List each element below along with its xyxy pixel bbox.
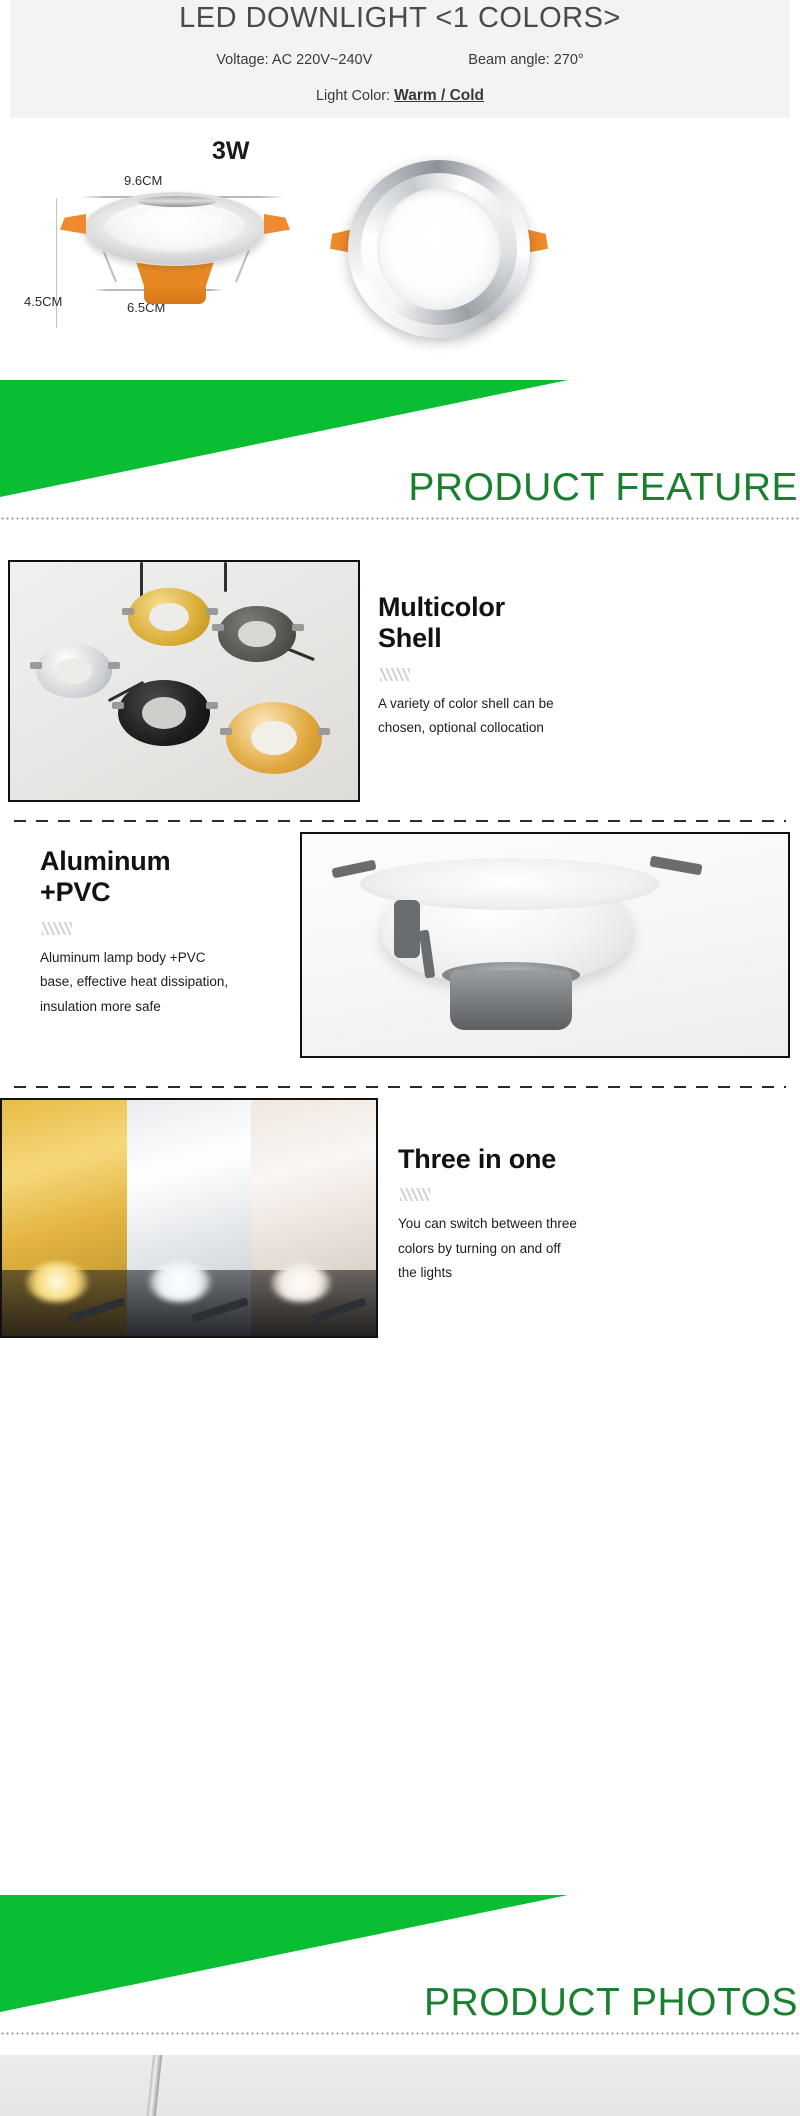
hatch-decoration-icon — [42, 922, 72, 935]
beam-angle-spec: Beam angle: 270° — [468, 52, 583, 68]
feature-heading-line1: Multicolor — [378, 592, 505, 622]
pane-wall — [251, 1100, 376, 1270]
cool-light-pane — [127, 1100, 252, 1336]
feature-body-line3: insulation more safe — [40, 999, 161, 1014]
product-feature-title: PRODUCT FEATURE — [408, 466, 798, 510]
feature-body-line3: the lights — [398, 1265, 452, 1280]
bottom-product-photo — [0, 2055, 800, 2116]
wattage-badge: 3W — [212, 137, 250, 166]
downlight-lens — [122, 208, 228, 244]
shell-silver — [36, 644, 112, 698]
product-title: LED DOWNLIGHT <1 COLORS> — [10, 0, 790, 35]
feature-body-line2: colors by turning on and off — [398, 1241, 561, 1256]
product-photos-title: PRODUCT PHOTOS — [424, 1981, 798, 2025]
feature-heading-line1: Three in one — [398, 1144, 556, 1174]
mounting-clip-right — [264, 214, 290, 234]
feature-heading-line1: Aluminum — [40, 846, 170, 876]
feature-body-line2: chosen, optional collocation — [378, 720, 544, 735]
pane-wall — [2, 1100, 127, 1270]
shell-prong — [122, 608, 134, 615]
feature-heading-line2: Shell — [378, 623, 442, 653]
downlight-driver-base — [144, 282, 206, 304]
dotted-divider — [0, 2032, 800, 2035]
three-color-temperature-photo — [0, 1098, 378, 1338]
shell-prong — [30, 662, 42, 669]
feature-row-three-in-one: Three in one You can switch between thre… — [0, 1098, 800, 1348]
chrome-downlight-illustration — [330, 156, 550, 342]
multicolor-shell-photo — [8, 560, 360, 802]
spec-header: LED DOWNLIGHT <1 COLORS> Voltage: AC 220… — [10, 0, 790, 118]
three-in-one-text: Three in one You can switch between thre… — [398, 1144, 778, 1286]
hatch-decoration-icon — [380, 668, 410, 681]
white-downlight-illustration — [60, 178, 290, 338]
wire — [224, 562, 227, 592]
feature-body: You can switch between three colors by t… — [398, 1212, 778, 1286]
feature-body-line2: base, effective heat dissipation, — [40, 974, 228, 989]
pvc-base — [450, 970, 572, 1030]
shell-gold — [128, 588, 210, 646]
height-dimension-label: 4.5CM — [24, 294, 62, 309]
spring-bracket — [394, 900, 420, 958]
voltage-spec: Voltage: AC 220V~240V — [216, 52, 372, 68]
lamp-glow — [271, 1264, 331, 1302]
photo-rod-detail — [146, 2055, 162, 2116]
shell-dark-gray — [218, 606, 296, 662]
shell-copper — [226, 702, 322, 774]
shell-prong — [108, 662, 120, 669]
lamp-glow — [149, 1262, 211, 1302]
aluminum-pvc-photo — [300, 832, 790, 1058]
product-dimension-diagram: 3W 9.6CM 4.5CM 6.5CM — [0, 118, 800, 380]
light-color-label: Light Color: — [316, 88, 390, 104]
downlight-chrome-accent — [138, 196, 216, 207]
dotted-divider — [0, 517, 800, 520]
product-feature-banner: PRODUCT FEATURE — [0, 380, 800, 530]
neutral-light-pane — [251, 1100, 376, 1336]
multicolor-shell-text: Multicolor Shell A variety of color shel… — [378, 592, 778, 741]
warm-light-pane — [2, 1100, 127, 1336]
chrome-diffuser-face — [388, 199, 490, 299]
product-photos-banner: PRODUCT PHOTOS — [0, 1895, 800, 2045]
shell-black — [118, 680, 210, 746]
dashed-divider-2 — [14, 1086, 786, 1088]
feature-body-line1: Aluminum lamp body +PVC — [40, 950, 205, 965]
pane-wall — [127, 1100, 252, 1270]
shell-prong — [206, 608, 218, 615]
feature-row-multicolor-shell: Multicolor Shell A variety of color shel… — [0, 560, 800, 810]
wire — [140, 562, 143, 598]
feature-body-line1: You can switch between three — [398, 1216, 577, 1231]
mounting-clip-left — [60, 214, 86, 234]
dashed-divider-1 — [14, 820, 786, 822]
feature-heading: Three in one — [398, 1144, 778, 1175]
shell-prong — [292, 624, 304, 631]
hatch-decoration-icon — [400, 1188, 430, 1201]
lamp-glow — [26, 1262, 88, 1302]
shell-prong — [318, 728, 330, 735]
feature-row-aluminum-pvc: Aluminum +PVC Aluminum lamp body +PVC ba… — [0, 832, 800, 1072]
feature-heading-line2: +PVC — [40, 877, 110, 907]
mounting-clip — [649, 856, 702, 876]
feature-body-line1: A variety of color shell can be — [378, 696, 554, 711]
shell-prong — [212, 624, 224, 631]
light-color-spec: Light Color: Warm / Cold — [10, 87, 790, 105]
feature-heading: Multicolor Shell — [378, 592, 778, 655]
light-color-value: Warm / Cold — [394, 87, 484, 104]
spec-row: Voltage: AC 220V~240V Beam angle: 270° — [10, 52, 790, 68]
shell-prong — [206, 702, 218, 709]
feature-body: A variety of color shell can be chosen, … — [378, 692, 778, 741]
shell-prong — [220, 728, 232, 735]
shell-prong — [112, 702, 124, 709]
